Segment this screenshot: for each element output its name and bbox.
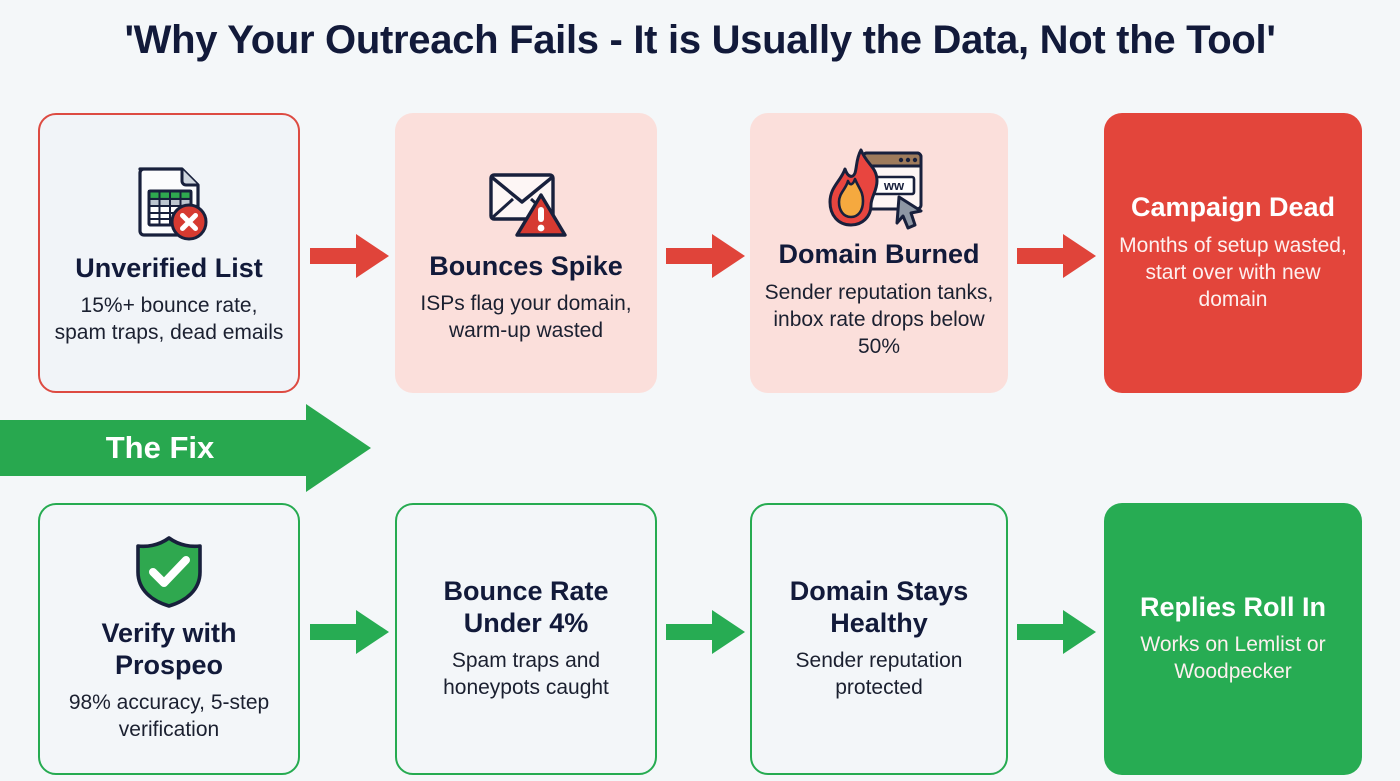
card-campaign-dead[interactable]: Campaign Dead Months of setup wasted, st… <box>1104 113 1362 393</box>
card-bounces-spike[interactable]: Bounces Spike ISPs flag your domain, war… <box>395 113 657 393</box>
card-description: 15%+ bounce rate, spam traps, dead email… <box>54 293 284 347</box>
the-fix-arrow <box>0 404 372 492</box>
card-title: Domain Stays Healthy <box>766 576 992 639</box>
card-bounce-rate-under-4[interactable]: Bounce Rate Under 4% Spam traps and hone… <box>395 503 657 775</box>
card-title: Bounce Rate Under 4% <box>411 576 641 639</box>
arrow-solution-1 <box>310 609 390 655</box>
svg-text:ww: ww <box>883 178 905 193</box>
card-title: Verify with Prospeo <box>54 618 284 681</box>
infographic-canvas: 'Why Your Outreach Fails - It is Usually… <box>0 0 1400 781</box>
fire-browser-icon: ww <box>827 145 931 231</box>
card-title: Campaign Dead <box>1131 192 1335 224</box>
card-description: Spam traps and honeypots caught <box>411 648 641 702</box>
card-description: Sender reputation protected <box>766 648 992 702</box>
arrow-solution-3 <box>1017 609 1097 655</box>
card-title: Replies Roll In <box>1140 592 1326 624</box>
card-description: Months of setup wasted, start over with … <box>1118 233 1348 314</box>
card-replies-roll-in[interactable]: Replies Roll In Works on Lemlist or Wood… <box>1104 503 1362 775</box>
card-verify-with-prospeo[interactable]: Verify with Prospeo 98% accuracy, 5-step… <box>38 503 300 775</box>
arrow-problem-2 <box>666 233 746 279</box>
spreadsheet-error-icon <box>126 159 212 245</box>
arrow-solution-2 <box>666 609 746 655</box>
card-description: Sender reputation tanks, inbox rate drop… <box>764 280 994 361</box>
card-description: ISPs flag your domain, warm-up wasted <box>409 291 643 345</box>
card-domain-burned[interactable]: ww Domain Burned Sender reputation tanks… <box>750 113 1008 393</box>
card-title: Bounces Spike <box>429 251 623 283</box>
arrow-problem-3 <box>1017 233 1097 279</box>
shield-check-icon <box>132 534 206 610</box>
page-title: 'Why Your Outreach Fails - It is Usually… <box>0 18 1400 63</box>
arrow-problem-1 <box>310 233 390 279</box>
card-unverified-list[interactable]: Unverified List 15%+ bounce rate, spam t… <box>38 113 300 393</box>
card-description: Works on Lemlist or Woodpecker <box>1118 632 1348 686</box>
card-title: Unverified List <box>75 253 263 285</box>
card-description: 98% accuracy, 5-step verification <box>54 690 284 744</box>
envelope-warning-icon <box>483 161 569 243</box>
card-domain-stays-healthy[interactable]: Domain Stays Healthy Sender reputation p… <box>750 503 1008 775</box>
card-title: Domain Burned <box>778 239 979 271</box>
